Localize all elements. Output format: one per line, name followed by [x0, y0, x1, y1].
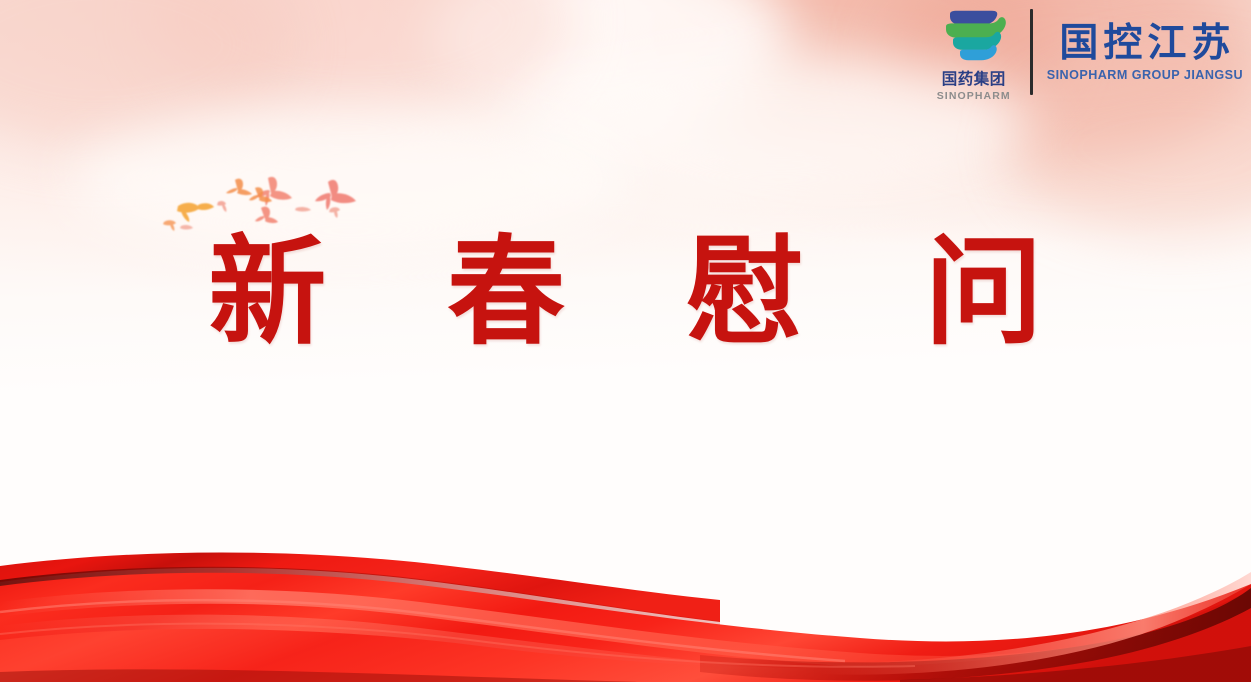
- division-name-en: SINOPHARM GROUP JIANGSU: [1047, 68, 1243, 83]
- logo-lockup: 国药集团 SINOPHARM 国控江苏 SINOPHARM GROUP JIAN…: [926, 8, 1243, 102]
- poster-title-container: 新 春 慰 问: [0, 232, 1251, 356]
- sinopharm-group-brand: 国药集团 SINOPHARM: [926, 8, 1022, 102]
- red-silk-ribbon-decoration: [0, 522, 1251, 682]
- division-name-cn: 国控江苏: [1054, 24, 1235, 65]
- cloud-blob: [430, 0, 790, 130]
- group-name-en: SINOPHARM: [937, 90, 1011, 103]
- logo-divider: [1030, 9, 1033, 95]
- sinopharm-jiangsu-brand: 国控江苏 SINOPHARM GROUP JIANGSU: [1047, 24, 1243, 87]
- cloud-blob: [0, 0, 290, 150]
- sinopharm-ribbon-mark-icon: [936, 10, 1012, 70]
- cloud-blob: [150, 0, 570, 125]
- group-name-cn: 国药集团: [942, 71, 1006, 89]
- poster-title: 新 春 慰 问: [164, 232, 1086, 356]
- poster-canvas: 国药集团 SINOPHARM 国控江苏 SINOPHARM GROUP JIAN…: [0, 0, 1251, 682]
